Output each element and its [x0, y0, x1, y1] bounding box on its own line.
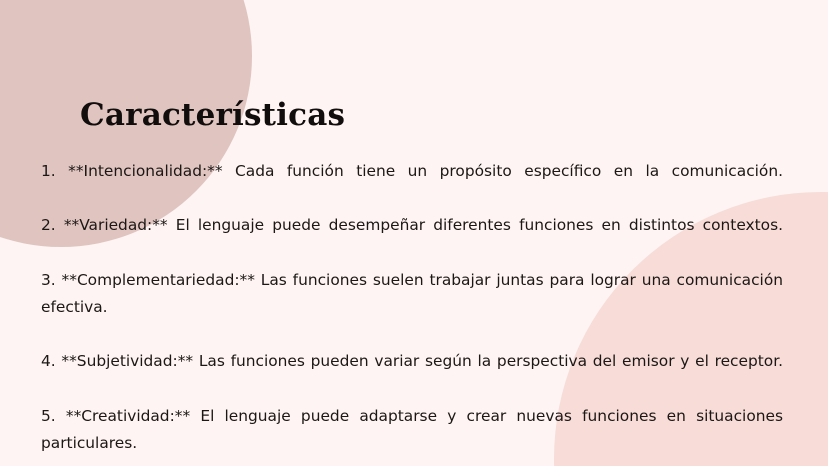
list-item: 1. **Intencionalidad:** Cada función tie… [41, 158, 783, 212]
slide-content: Características 1. **Intencionalidad:** … [0, 0, 828, 466]
page-title: Características [80, 95, 345, 135]
slide-canvas: Características 1. **Intencionalidad:** … [0, 0, 828, 466]
list-item: 3. **Complementariedad:** Las funciones … [41, 267, 783, 349]
list-item: 5. **Creatividad:** El lenguaje puede ad… [41, 403, 783, 466]
characteristics-list: 1. **Intencionalidad:** Cada función tie… [41, 158, 783, 466]
list-item: 4. **Subjetividad:** Las funciones puede… [41, 348, 783, 402]
list-item: 2. **Variedad:** El lenguaje puede desem… [41, 212, 783, 266]
